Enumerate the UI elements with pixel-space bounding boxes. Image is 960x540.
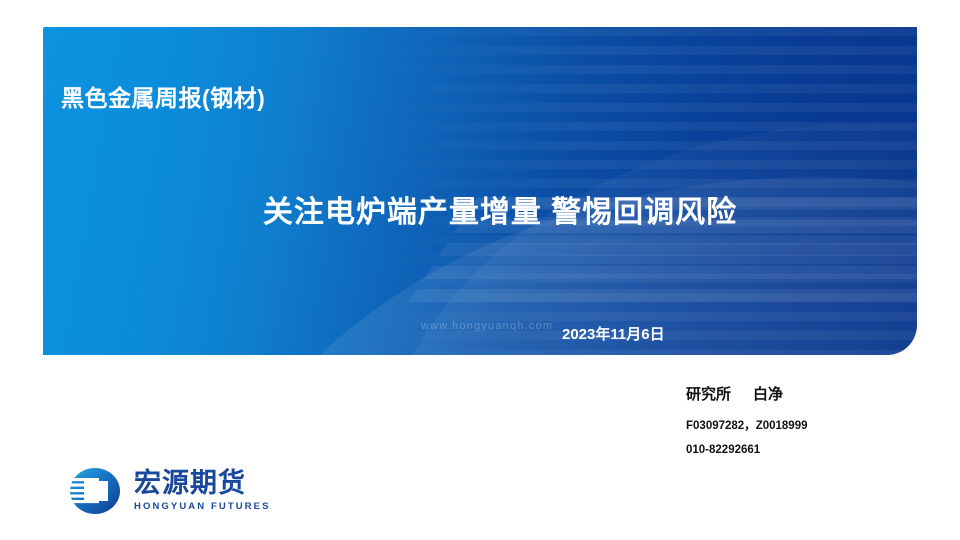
contact-department-line: 研究所白净: [686, 383, 808, 404]
title-banner: 黑色金属周报(钢材) 关注电炉端产量增量 警惕回调风险 www.hongyuan…: [43, 27, 917, 355]
logo-name-cn: 宏源期货: [134, 470, 271, 497]
contact-license-numbers: F03097282，Z0018999: [686, 417, 808, 433]
logo-text: 宏源期货 HONGYUAN FUTURES: [134, 470, 271, 512]
contact-analyst-name: 白净: [753, 386, 783, 403]
main-heading: 关注电炉端产量增量 警惕回调风险: [43, 187, 917, 231]
report-title: 黑色金属周报(钢材): [61, 79, 265, 113]
contact-block: 研究所白净 F03097282，Z0018999 010-82292661: [686, 383, 808, 456]
contact-department: 研究所: [686, 386, 731, 403]
company-logo: 宏源期货 HONGYUAN FUTURES: [62, 466, 271, 516]
publication-date: 2023年11月6日: [562, 323, 665, 344]
contact-phone-number: 010-82292661: [686, 444, 808, 456]
hongyuan-logo-icon: [62, 466, 124, 516]
website-watermark: www.hongyuanqh.com: [421, 320, 553, 332]
logo-name-en: HONGYUAN FUTURES: [134, 501, 271, 512]
